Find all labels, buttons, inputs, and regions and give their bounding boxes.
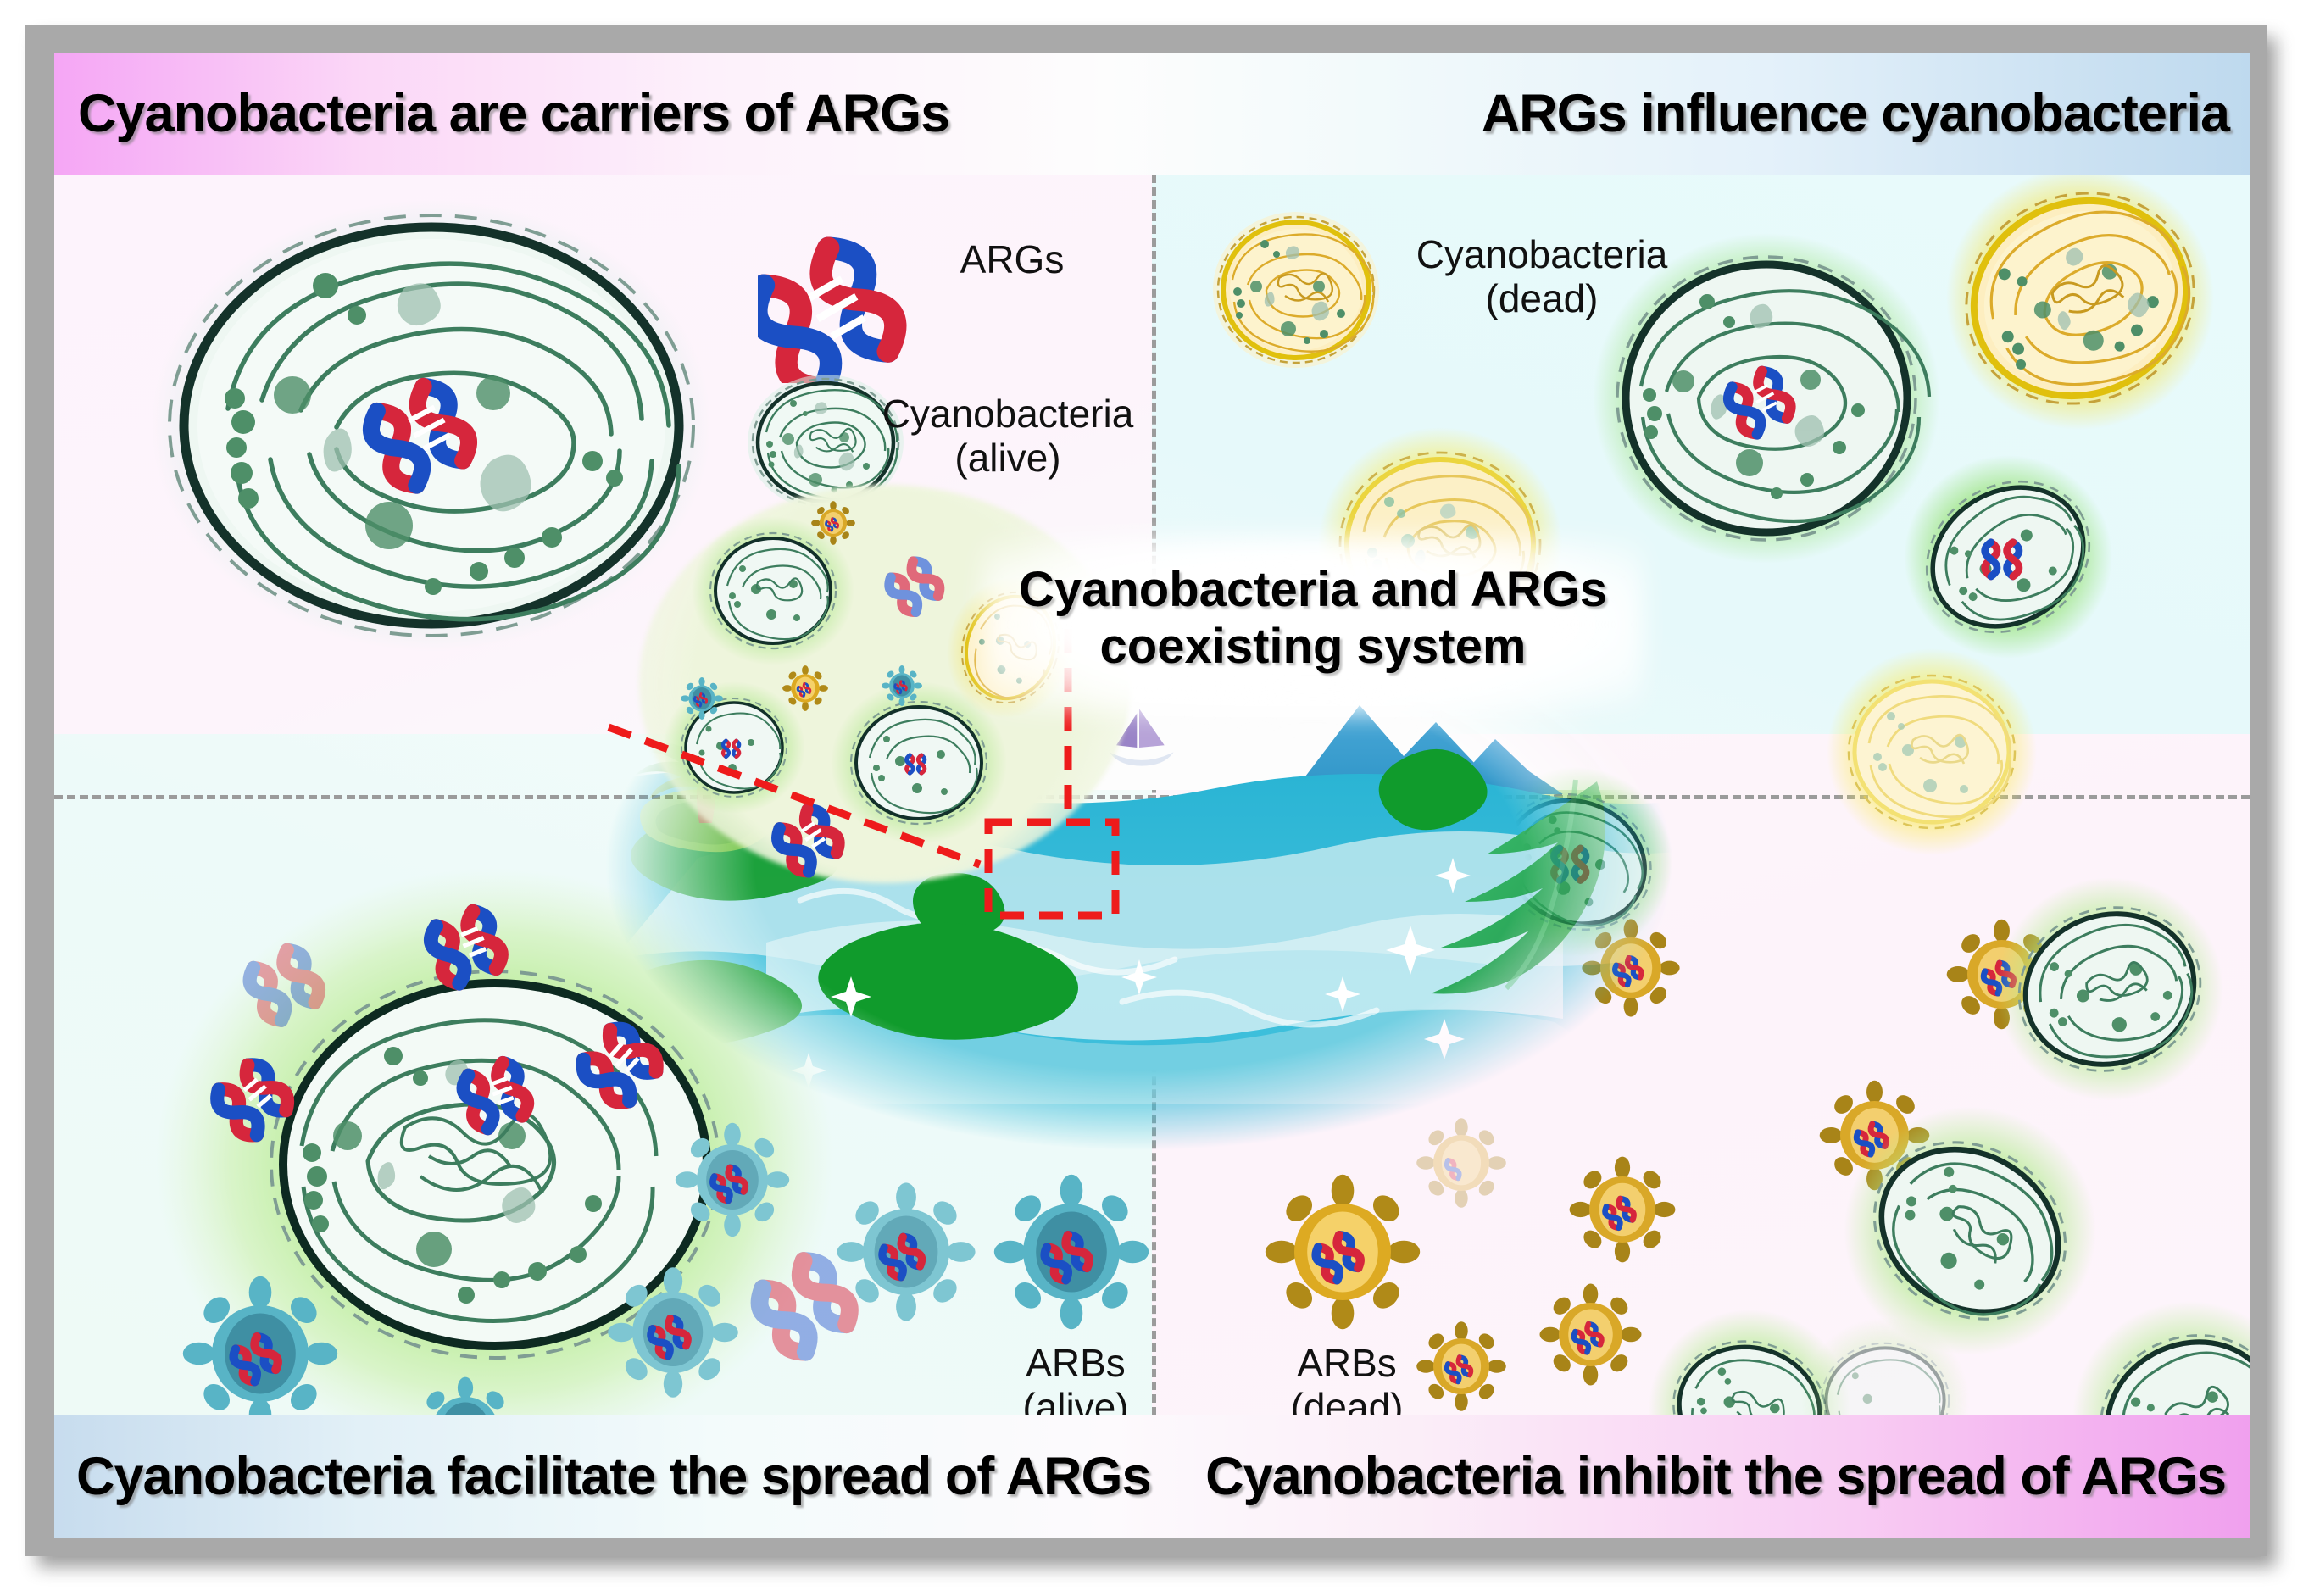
legend-arbs-dead-line1: ARBs — [1297, 1341, 1397, 1385]
arb-dead-br-3 — [1415, 1320, 1508, 1413]
legend-cyano-alive-line1: Cyanobacteria — [882, 392, 1134, 436]
inset-arb-dead-2 — [782, 665, 828, 711]
legend-arbs-alive-line1: ARBs — [1026, 1341, 1126, 1385]
legend-label-args: ARGs — [902, 237, 1122, 281]
legend-label-cyanobacteria-alive: Cyanobacteria (alive) — [851, 392, 1165, 481]
arb-alive-bl-3 — [605, 1265, 741, 1400]
arb-dead-br-4 — [1538, 1282, 1644, 1387]
inset-dna-1 — [885, 557, 944, 616]
cyanobacteria-cell-dead-glow-tr-1 — [1944, 163, 2216, 434]
quadrant-title-top-left: Cyanobacteria are carriers of ARGs — [78, 83, 949, 144]
arb-dead-br-2 — [1567, 1154, 1677, 1265]
center-label-line1: Cyanobacteria and ARGs — [1016, 561, 1610, 618]
figure-panel: ARGs — [54, 53, 2250, 1538]
center-system-label: Cyanobacteria and ARGs coexisting system — [1016, 561, 1610, 676]
center-label-line2: coexisting system — [1016, 618, 1610, 675]
legend-cyano-alive-line2: (alive) — [954, 436, 1060, 480]
quadrant-title-bottom-left: Cyanobacteria facilitate the spread of A… — [76, 1446, 1151, 1507]
cyanobacteria-cell-dead-glow-tr-3 — [1826, 646, 2038, 858]
legend-arb-dead-icon — [1262, 1171, 1423, 1332]
header-bar-top: Cyanobacteria are carriers of ARGs ARGs … — [54, 53, 2250, 175]
cyanobacteria-cell-alive-glow-tr-2 — [1902, 451, 2114, 663]
cyanobacteria-cell-br-1 — [1995, 875, 2224, 1104]
header-bar-bottom: Cyanobacteria facilitate the spread of A… — [54, 1415, 2250, 1538]
legend-cyano-dead-line2: (dead) — [1486, 276, 1599, 320]
arb-alive-bl-1 — [180, 1273, 341, 1434]
quadrant-title-top-right: ARGs influence cyanobacteria — [1482, 83, 2229, 144]
legend-arb-alive-icon — [991, 1171, 1152, 1332]
graphical-abstract-figure: ARGs — [0, 0, 2303, 1596]
inset-cyanobacteria-1 — [692, 516, 854, 665]
quadrant-title-bottom-right: Cyanobacteria inhibit the spread of ARGs — [1205, 1446, 2226, 1507]
legend-args-text: ARGs — [960, 237, 1065, 281]
legend-cyanobacteria-dead-icon — [1207, 205, 1385, 375]
dna-strand-bl-free-1 — [741, 1222, 885, 1366]
legend-args-dna-icon — [758, 222, 919, 383]
inset-dna-2 — [772, 804, 845, 877]
cyanobacteria-cell-alive-glow-tr-1 — [1588, 229, 1944, 568]
